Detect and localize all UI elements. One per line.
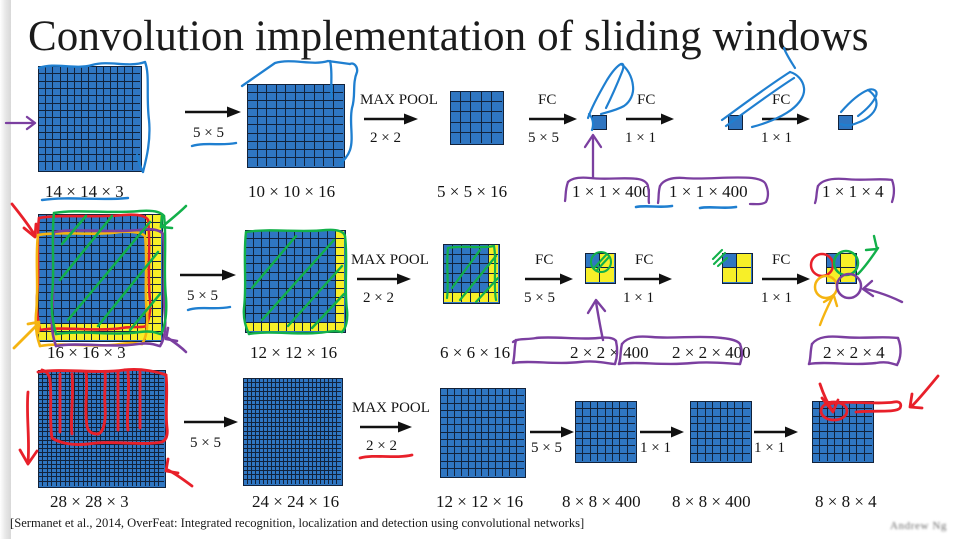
grid-cell [111,126,118,133]
grid-row [248,150,344,158]
ink-red-underline-2x2-row3 [360,455,412,458]
label-row3-stage1: 28 × 28 × 3 [50,492,129,512]
grid-cell [146,293,154,301]
grid-cell [267,109,277,117]
label-row3-stage6: 8 × 8 × 4 [815,492,877,512]
grid-cell [591,424,598,431]
grid-row [576,454,636,461]
grid-cell [295,314,303,322]
grid-cell [100,317,108,325]
grid-row [39,140,141,147]
grid-cell [108,238,116,246]
grid-cell [820,439,827,446]
grid-cell [583,454,590,461]
grid-cell [455,411,462,418]
grid-cell [125,96,132,103]
grid-cell [315,117,325,125]
grid-cell [620,417,627,424]
grid-cell [620,454,627,461]
grid-cell [92,324,100,332]
grid-cell [303,231,311,239]
grid-cell [54,254,62,262]
grid-row [39,223,162,231]
grid-cell [286,125,296,133]
grid-cell [77,309,85,317]
grid-cell [39,262,47,270]
grid-cell [462,462,469,469]
grid-cell [305,109,315,117]
grid-cell [54,231,62,239]
grid-cell [131,270,139,278]
grid-row [248,117,344,125]
grid-cell [743,454,750,461]
grid-cell [39,231,47,239]
grid-cell [146,324,154,332]
grid-row [39,74,141,81]
grid-cell [444,293,453,303]
grid-cell [698,424,705,431]
grid-cell [613,417,620,424]
grid-cell [496,389,503,396]
grid-cell [286,134,296,142]
grid-cell [706,439,713,446]
arrow-row1-conv [183,105,243,119]
grid-cell [303,323,311,331]
grid-cell [835,432,842,439]
grid-cell [279,323,287,331]
grid-cell [146,278,154,286]
grid-row [723,268,752,282]
grid-cell [138,293,146,301]
grid-cell [68,133,75,140]
grid-cell [118,74,125,81]
grid-cell [286,150,296,158]
grid-cell [287,298,295,306]
grid-cell [248,109,258,117]
grid-row [39,301,162,309]
grid-cell [75,67,82,74]
grid-cell [319,239,327,247]
grid-cell [448,447,455,454]
grid-cell [82,118,89,125]
grid-cell [287,306,295,314]
grid-row [246,281,345,289]
grid-cell [850,446,857,453]
grid-cell [287,281,295,289]
grid-cell [47,309,55,317]
grid-cell [328,281,336,289]
grid-cell [517,389,524,396]
grid-cell [728,439,735,446]
grid-cell [850,402,857,409]
grid-cell [133,111,140,118]
op-row2-fc3-kernel: 1 × 1 [761,290,792,307]
grid-cell [698,454,705,461]
grid-cell [70,254,78,262]
ink-blue-underline-label-a [636,206,672,207]
grid-cell [125,126,132,133]
grid-row [248,109,344,117]
grid-cell [613,454,620,461]
label-row1-stage4: 1 × 1 × 400 [572,182,651,202]
grid-cell [441,462,448,469]
grid-row [813,417,873,424]
grid-cell [54,262,62,270]
grid-row [39,254,162,262]
grid-cell [441,447,448,454]
grid-cell [39,162,46,169]
grid-cell [737,268,751,282]
grid-cell [246,323,254,331]
feature-map-28x28x3 [38,370,166,488]
grid-cell [620,402,627,409]
grid-cell [262,281,270,289]
grid-cell [118,140,125,147]
grid-cell [305,85,315,93]
grid-cell [691,417,698,424]
grid-cell [75,74,82,81]
grid-row [586,254,615,268]
grid-cell [503,418,510,425]
grid-cell [813,409,820,416]
label-row1-stage1: 14 × 14 × 3 [45,182,124,202]
grid-cell [303,314,311,322]
grid-row [691,417,751,424]
feature-block-1x1x400-a [592,115,607,130]
grid-row [39,246,162,254]
grid-cell [319,298,327,306]
grid-cell [295,239,303,247]
grid-cell [246,306,254,314]
grid-cell [496,447,503,454]
grid-cell [267,158,277,166]
grid-cell [248,158,258,166]
grid-cell [319,306,327,314]
grid-cell [296,93,306,101]
grid-cell [324,125,334,133]
grid-cell [576,424,583,431]
grid-cell [118,162,125,169]
grid-cell [104,96,111,103]
grid-cell [576,454,583,461]
grid-cell [503,469,510,476]
grid-cell [489,264,498,274]
grid-cell [444,264,453,274]
grid-cell [334,134,344,142]
grid-cell [482,389,489,396]
grid-cell [492,102,502,112]
grid-cell [328,273,336,281]
grid-cell [319,256,327,264]
grid-cell [305,93,315,101]
grid-cell [75,126,82,133]
grid-cell [46,126,53,133]
grid-cell [138,301,146,309]
grid-cell [303,248,311,256]
top-edge [0,0,959,3]
grid-row [813,446,873,453]
grid-cell [471,274,480,284]
grid-cell [737,254,751,268]
grid-cell [248,85,258,93]
grid-cell [336,289,344,297]
grid-cell [503,404,510,411]
grid-row [576,417,636,424]
grid-cell [39,301,47,309]
grid-cell [146,223,154,231]
grid-cell [111,140,118,147]
grid-cell [62,332,70,340]
grid-cell [97,148,104,155]
grid-cell [123,278,131,286]
label-row3-stage2: 24 × 24 × 16 [252,492,339,512]
grid-cell [270,281,278,289]
grid-cell [68,89,75,96]
grid-cell [70,246,78,254]
grid-cell [451,112,461,122]
grid-cell [480,255,489,265]
grid-cell [865,402,872,409]
grid-cell [153,231,161,239]
grid-row [691,432,751,439]
grid-cell [721,439,728,446]
grid-cell [706,454,713,461]
grid-cell [39,278,47,286]
grid-cell [62,309,70,317]
grid-cell [857,446,864,453]
op-row1-fc1-kernel: 5 × 5 [528,130,559,147]
grid-cell [482,404,489,411]
grid-cell [820,417,827,424]
grid-cell [606,439,613,446]
grid-cell [115,254,123,262]
grid-cell [517,462,524,469]
grid-cell [46,140,53,147]
grid-cell [75,155,82,162]
grid-cell [125,104,132,111]
grid-cell [336,248,344,256]
grid-cell [713,409,720,416]
grid-row [827,254,856,268]
grid-cell [254,248,262,256]
grid-cell [77,301,85,309]
grid-cell [46,89,53,96]
grid-cell [841,254,855,268]
grid-cell [489,440,496,447]
grid-cell [39,126,46,133]
grid-cell [97,162,104,169]
grid-cell [865,432,872,439]
grid-cell [296,117,306,125]
grid-cell [489,411,496,418]
grid-cell [295,248,303,256]
grid-cell [270,256,278,264]
grid-cell [85,246,93,254]
grid-cell [108,223,116,231]
grid-cell [628,424,635,431]
grid-cell [104,140,111,147]
grid-cell [125,89,132,96]
grid-cell [334,150,344,158]
grid-cell [104,148,111,155]
grid-cell [620,409,627,416]
grid-cell [469,396,476,403]
grid-cell [47,246,55,254]
grid-cell [461,112,471,122]
grid-cell [153,246,161,254]
grid-cell [471,123,481,133]
grid-cell [53,96,60,103]
grid-cell [328,231,336,239]
grid-cell [47,293,55,301]
grid-row [444,293,499,303]
grid-cell [111,89,118,96]
grid-cell [489,283,498,293]
grid-cell [77,254,85,262]
grid-cell [698,432,705,439]
grid-cell [39,96,46,103]
grid-row [576,402,636,409]
grid-cell [85,223,93,231]
grid-cell [857,409,864,416]
grid-cell [125,133,132,140]
grid-row [444,283,499,293]
grid-cell [482,112,492,122]
grid-row [39,96,141,103]
grid-cell [92,301,100,309]
grid-cell [441,425,448,432]
grid-cell [277,101,287,109]
grid-cell [455,404,462,411]
grid-cell [248,117,258,125]
grid-cell [510,425,517,432]
grid-cell [108,246,116,254]
grid-cell [270,323,278,331]
grid-cell [70,215,78,223]
grid-cell [735,409,742,416]
grid-cell [593,116,605,128]
grid-cell [319,231,327,239]
grid-row [576,446,636,453]
grid-row [244,480,342,484]
grid-cell [476,440,483,447]
grid-cell [92,254,100,262]
grid-cell [46,67,53,74]
grid-cell [258,117,268,125]
grid-cell [295,289,303,297]
grid-cell [492,123,502,133]
grid-cell [334,93,344,101]
grid-row [441,440,525,447]
grid-cell [453,293,462,303]
op-row1-conv-kernel: 5 × 5 [193,125,224,142]
grid-cell [721,409,728,416]
arrow-row3-fc3 [752,425,800,439]
grid-cell [89,67,96,74]
feature-block-2x2x400-a [585,253,616,284]
op-row1-fc1-title: FC [538,92,556,109]
grid-cell [47,278,55,286]
grid-cell [691,409,698,416]
grid-cell [743,409,750,416]
grid-cell [586,254,600,268]
grid-cell [496,396,503,403]
grid-cell [448,469,455,476]
grid-cell [489,245,498,255]
grid-cell [133,74,140,81]
grid-cell [706,417,713,424]
grid-cell [89,162,96,169]
grid-cell [835,409,842,416]
grid-cell [820,402,827,409]
grid-cell [100,324,108,332]
grid-cell [123,332,131,340]
grid-cell [115,293,123,301]
grid-row [441,462,525,469]
grid-cell [277,85,287,93]
grid-row [246,289,345,297]
grid-cell [337,480,341,484]
grid-cell [469,425,476,432]
grid-cell [46,148,53,155]
grid-cell [131,332,139,340]
grid-cell [476,469,483,476]
grid-cell [328,264,336,272]
grid-cell [448,404,455,411]
grid-cell [47,238,55,246]
grid-cell [469,454,476,461]
grid-cell [448,454,455,461]
grid-cell [54,285,62,293]
grid-cell [336,306,344,314]
grid-cell [262,231,270,239]
grid-cell [503,425,510,432]
grid-cell [92,246,100,254]
grid-cell [89,74,96,81]
grid-cell [54,317,62,325]
grid-cell [311,273,319,281]
grid-cell [62,270,70,278]
ink-purple-arrow-row2-br [166,328,186,352]
grid-cell [469,418,476,425]
grid-cell [496,462,503,469]
grid-cell [123,309,131,317]
grid-cell [62,254,70,262]
grid-cell [53,74,60,81]
grid-cell [82,96,89,103]
grid-cell [115,301,123,309]
grid-cell [89,140,96,147]
grid-cell [441,396,448,403]
grid-cell [305,125,315,133]
grid-cell [131,215,139,223]
grid-cell [441,440,448,447]
grid-cell [97,140,104,147]
grid-cell [441,411,448,418]
grid-cell [336,298,344,306]
feature-block-1x1x4 [838,115,853,130]
grid-row [691,454,751,461]
grid-cell [131,309,139,317]
op-row2-maxpool-kernel: 2 × 2 [363,290,394,307]
grid-cell [279,289,287,297]
grid-cell [691,454,698,461]
grid-cell [865,409,872,416]
grid-row [444,274,499,284]
grid-cell [82,126,89,133]
grid-cell [303,256,311,264]
grid-row [444,255,499,265]
